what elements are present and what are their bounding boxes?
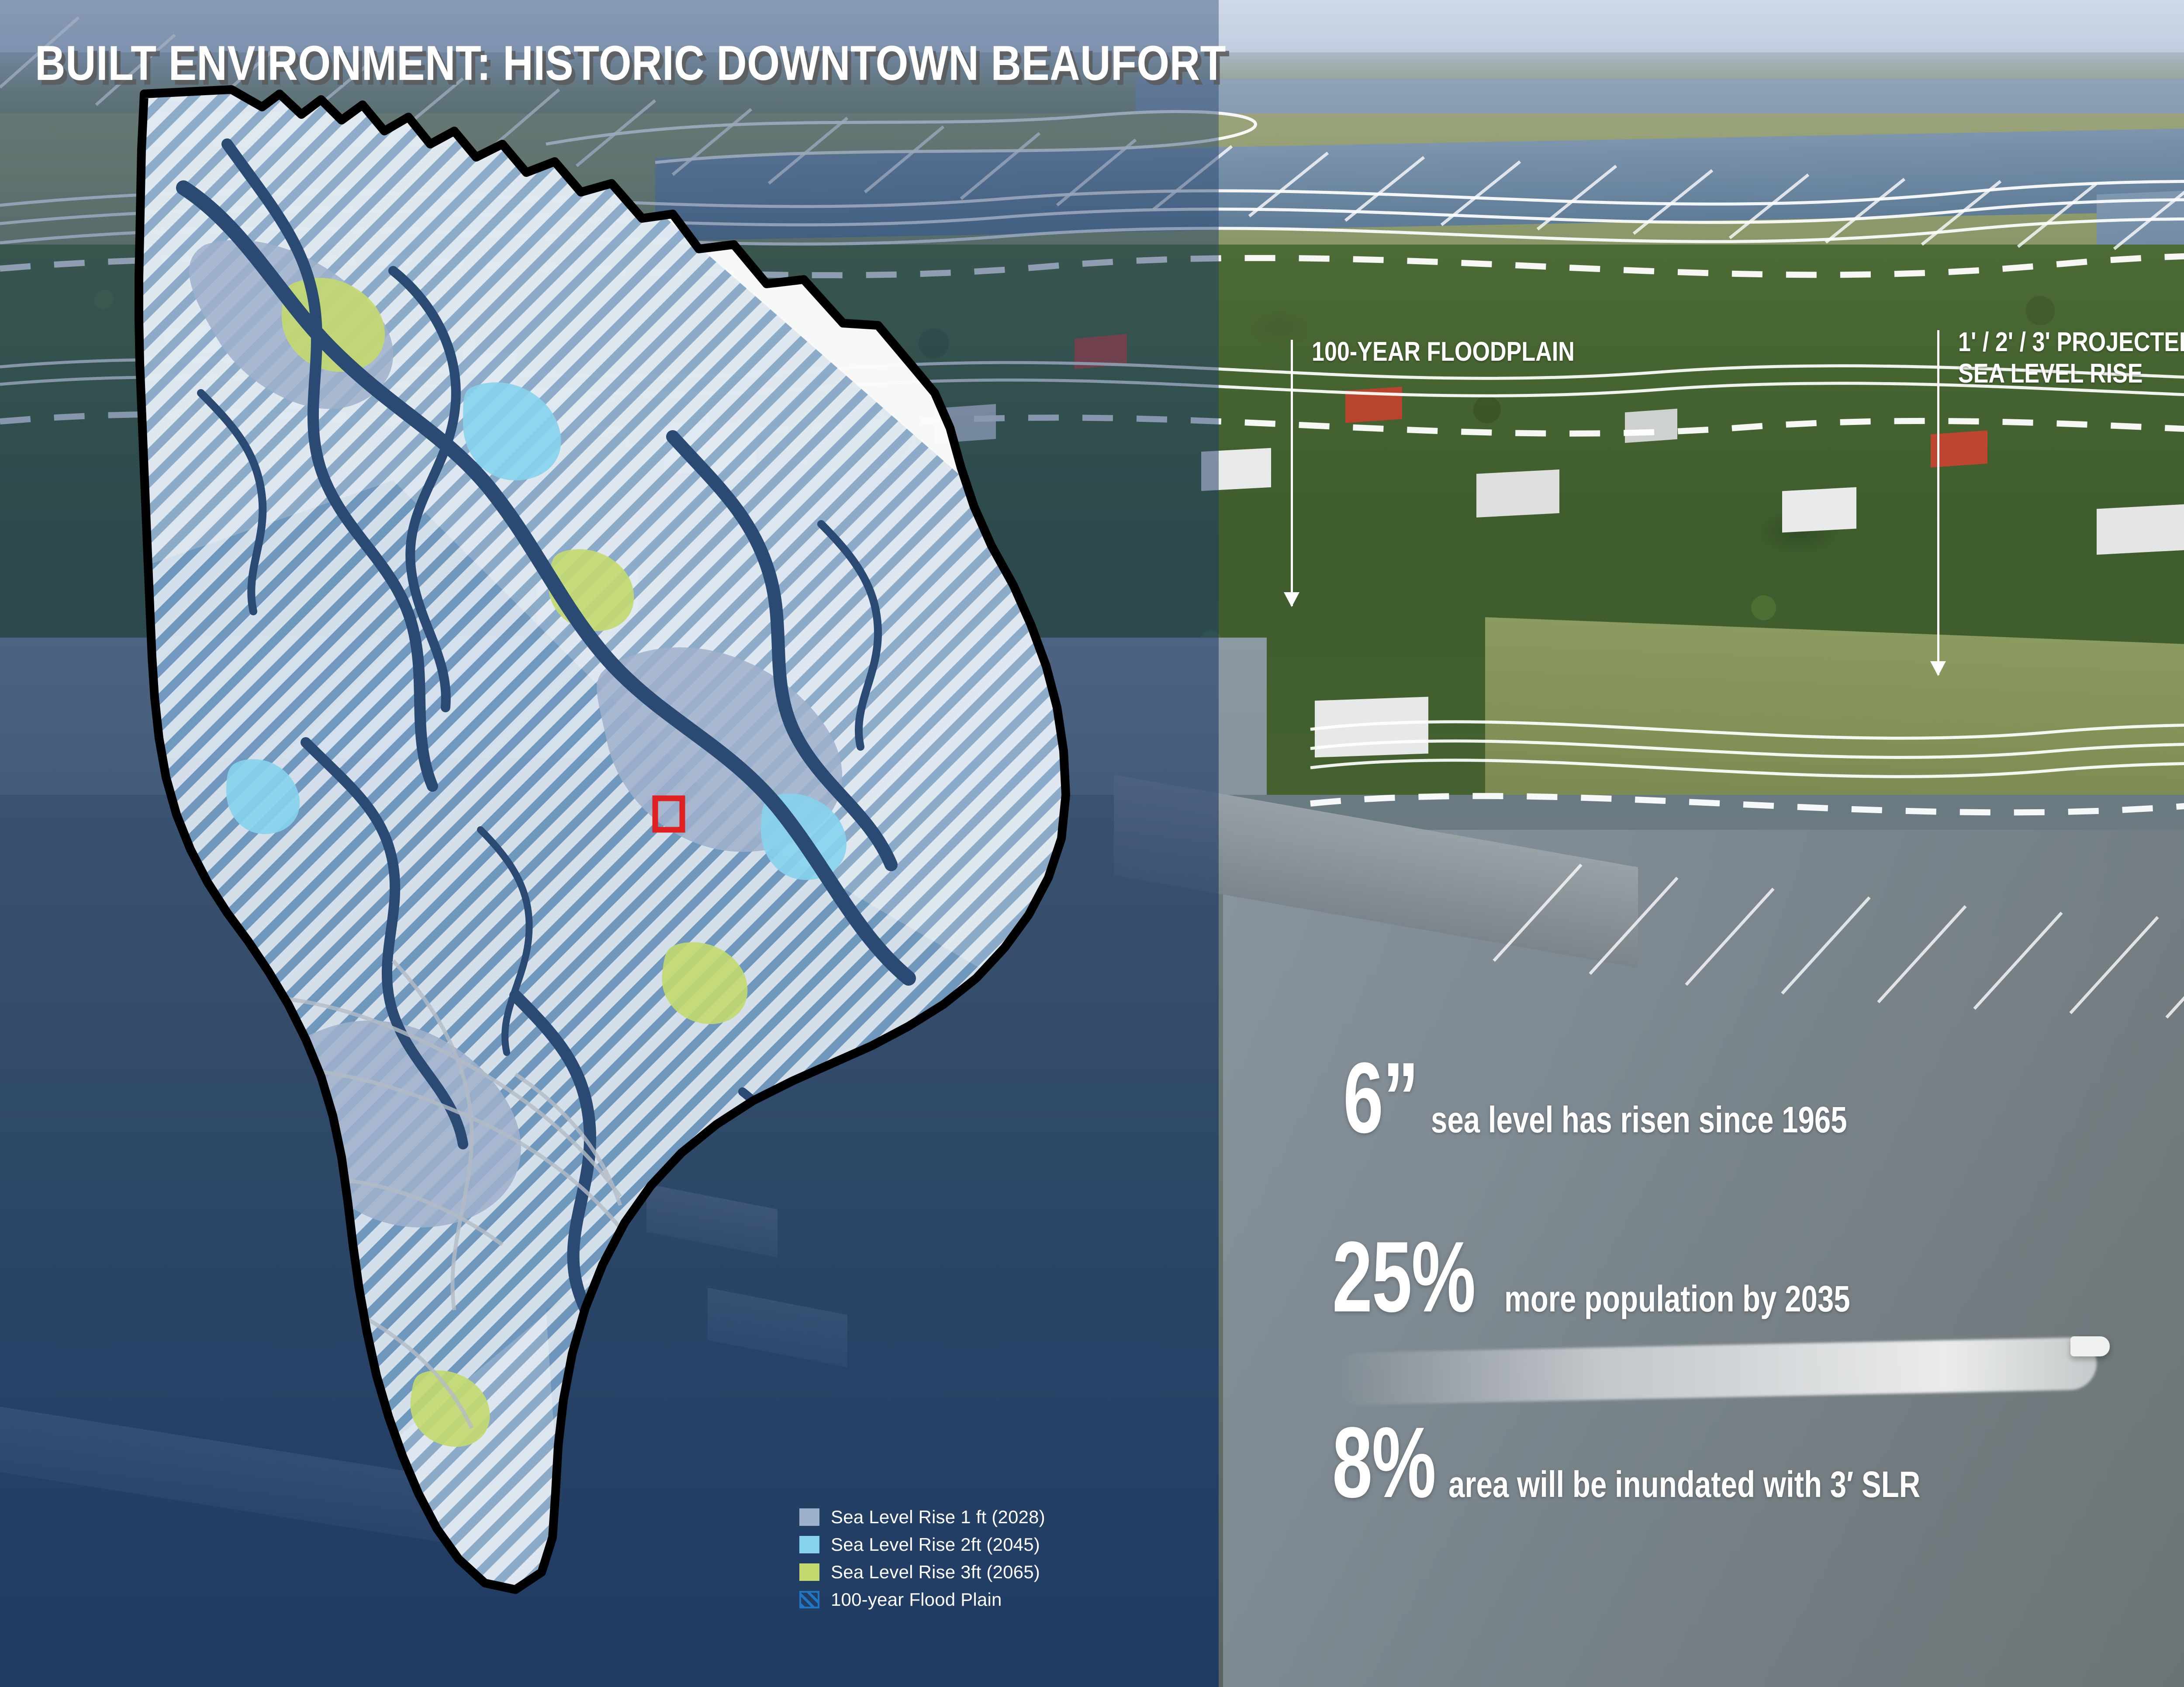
stat-text: sea level has risen since 1965 bbox=[1431, 1101, 1847, 1138]
legend-item[interactable]: 100-year Flood Plain bbox=[799, 1589, 1045, 1610]
callout-label-line2: SEA LEVEL RISE bbox=[1958, 358, 2184, 390]
infographic-root: Sea Level Rise 1 ft (2028) Sea Level Ris… bbox=[0, 0, 2184, 1687]
map-canvas bbox=[0, 0, 1219, 1687]
page-title: BUILT ENVIRONMENT: HISTORIC DOWNTOWN BEA… bbox=[35, 35, 1226, 91]
legend-label: Sea Level Rise 1 ft (2028) bbox=[831, 1507, 1045, 1528]
stat-value: 25% bbox=[1332, 1236, 1475, 1318]
stat-sea-level-risen: 6” sea level has risen since 1965 bbox=[1343, 1057, 1951, 1139]
legend-swatch-slr-3ft bbox=[799, 1563, 819, 1581]
legend-item[interactable]: Sea Level Rise 3ft (2065) bbox=[799, 1562, 1045, 1583]
stat-text: more population by 2035 bbox=[1504, 1280, 1850, 1317]
map-legend: Sea Level Rise 1 ft (2028) Sea Level Ris… bbox=[799, 1507, 1045, 1617]
legend-item[interactable]: Sea Level Rise 2ft (2045) bbox=[799, 1534, 1045, 1555]
legend-swatch-slr-1ft bbox=[799, 1508, 819, 1526]
stat-population: 25% more population by 2035 bbox=[1332, 1236, 1937, 1318]
legend-item[interactable]: Sea Level Rise 1 ft (2028) bbox=[799, 1507, 1045, 1528]
legend-swatch-flood-plain bbox=[799, 1591, 819, 1608]
floodplain-leader-line bbox=[1291, 340, 1293, 606]
legend-label: Sea Level Rise 2ft (2045) bbox=[831, 1534, 1040, 1555]
callout-label: 100-YEAR FLOODPLAIN bbox=[1312, 336, 1575, 368]
slr-leader-line bbox=[1937, 330, 1939, 675]
callout-floodplain: 100-YEAR FLOODPLAIN bbox=[1291, 336, 1625, 368]
legend-label: Sea Level Rise 3ft (2065) bbox=[831, 1562, 1040, 1583]
stat-value: 6” bbox=[1343, 1057, 1418, 1139]
legend-swatch-slr-2ft bbox=[799, 1536, 819, 1553]
motorboat bbox=[2070, 1336, 2110, 1356]
beaufort-county-flood-map[interactable] bbox=[0, 0, 1219, 1687]
stat-inundation: 8% area will be inundated with 3′ SLR bbox=[1332, 1421, 2039, 1504]
legend-label: 100-year Flood Plain bbox=[831, 1589, 1002, 1610]
callout-sea-level-rise: 1' / 2' / 3' PROJECTED SEA LEVEL RISE bbox=[1937, 327, 2184, 390]
callout-label-line1: 1' / 2' / 3' PROJECTED bbox=[1958, 327, 2184, 358]
stat-value: 8% bbox=[1332, 1421, 1435, 1504]
stat-text: area will be inundated with 3′ SLR bbox=[1448, 1466, 1920, 1503]
sea-level-rise-map-panel: Sea Level Rise 1 ft (2028) Sea Level Ris… bbox=[0, 0, 1219, 1687]
